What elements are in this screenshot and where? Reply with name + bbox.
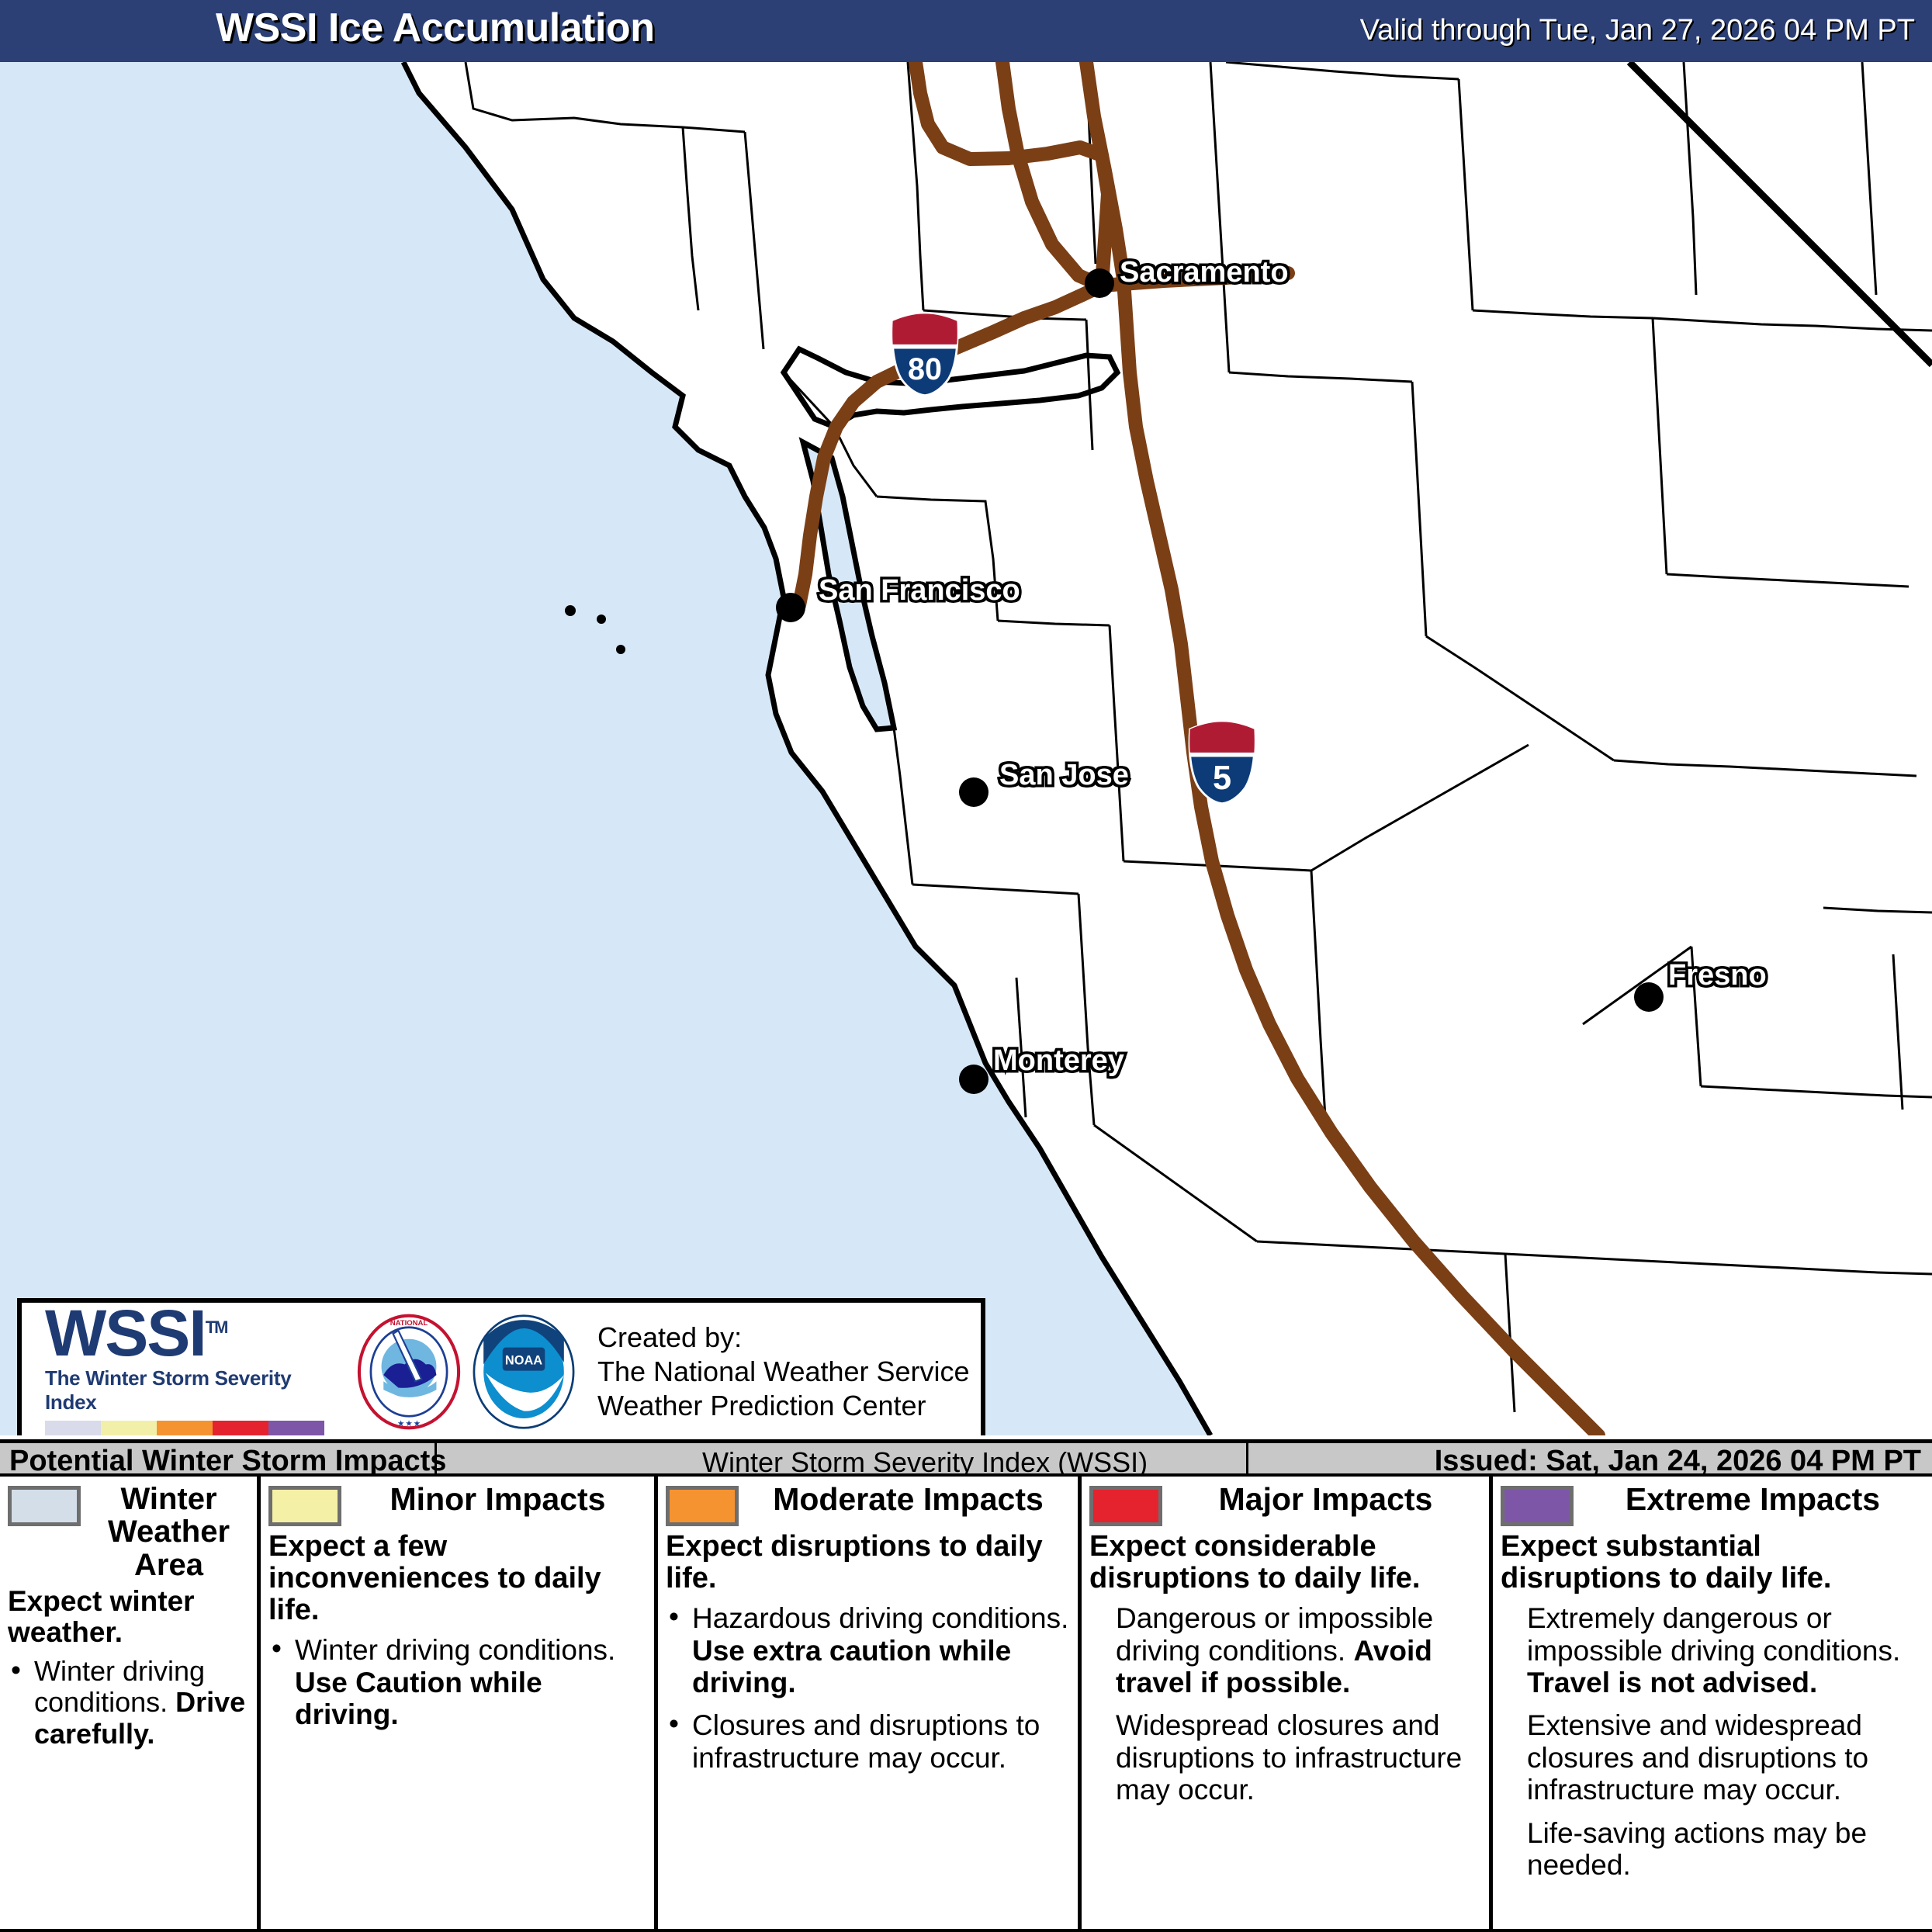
city-dot [959, 1065, 989, 1094]
legend-bullet-item: Hazardous driving conditions. Use extra … [666, 1602, 1070, 1698]
shield-route-number: 80 [908, 352, 942, 386]
legend-column-winter-weather-area[interactable]: Winter Weather Area Expect winter weathe… [0, 1477, 261, 1929]
legend-swatch-major-impacts [1089, 1486, 1162, 1526]
impacts-status-bar: Potential Winter Storm Impacts Winter St… [0, 1439, 1932, 1477]
legend-swatch-winter-weather-area [8, 1486, 81, 1526]
legend-bullet-list: Dangerous or impossible driving conditio… [1089, 1602, 1481, 1806]
legend-bullet-item: Winter driving conditions. Use Caution w… [268, 1634, 646, 1730]
legend-column-minor-impacts[interactable]: Minor Impacts Expect a few inconvenience… [261, 1477, 658, 1929]
legend-bullet-item: Life-saving actions may be needed. [1501, 1817, 1924, 1882]
legend-title: Extreme Impacts [1581, 1483, 1924, 1516]
city-label: Fresno [1668, 959, 1767, 992]
map-canvas[interactable]: Sacramento San Francisco San Jose Fresno… [0, 62, 1932, 1435]
strip-swatch-minor [101, 1421, 157, 1435]
strip-swatch-extreme [268, 1421, 324, 1435]
page-title: WSSI Ice Accumulation [216, 5, 654, 51]
legend-column-extreme-impacts[interactable]: Extreme Impacts Expect substantial disru… [1493, 1477, 1932, 1929]
strip-swatch-winter-weather [45, 1421, 101, 1435]
legend-column-major-impacts[interactable]: Major Impacts Expect considerable disrup… [1082, 1477, 1493, 1929]
svg-text:NATIONAL: NATIONAL [390, 1319, 428, 1328]
trademark-symbol: TM [206, 1317, 227, 1337]
page-header: WSSI Ice Accumulation Valid through Tue,… [0, 0, 1932, 62]
legend-bullet-item: Closures and disruptions to infrastructu… [666, 1709, 1070, 1774]
legend-bullet-list: Hazardous driving conditions. Use extra … [666, 1602, 1070, 1774]
city-label: San Jose [999, 759, 1129, 792]
legend-lead-text: Expect substantial disruptions to daily … [1501, 1531, 1924, 1594]
legend-bullet-item: Dangerous or impossible driving conditio… [1089, 1602, 1481, 1698]
legend-header: Major Impacts [1089, 1483, 1481, 1526]
strip-swatch-major [213, 1421, 268, 1435]
map-geography [0, 62, 1932, 1435]
legend-header: Extreme Impacts [1501, 1483, 1924, 1526]
legend-header: Minor Impacts [268, 1483, 646, 1526]
noaa-seal: NOAA [470, 1314, 577, 1430]
legend-lead-text: Expect winter weather. [8, 1586, 249, 1648]
legend-header: Winter Weather Area [8, 1483, 249, 1581]
strip-swatch-moderate [157, 1421, 213, 1435]
statusbar-issued-label: Issued: Sat, Jan 24, 2026 04 PM PT [1435, 1445, 1921, 1478]
interstate-5-shield[interactable]: 5 [1186, 720, 1259, 805]
wssi-subtitle: The Winter Storm Severity Index [45, 1366, 348, 1414]
legend-column-moderate-impacts[interactable]: Moderate Impacts Expect disruptions to d… [658, 1477, 1082, 1929]
city-label: Sacramento [1120, 256, 1289, 289]
legend-bullet-item: Extensive and widespread closures and di… [1501, 1709, 1924, 1806]
legend-lead-text: Expect disruptions to daily life. [666, 1531, 1070, 1594]
created-by-line-1: Created by: [597, 1321, 970, 1355]
city-label: Monterey [993, 1044, 1124, 1078]
legend-title: Winter Weather Area [88, 1483, 249, 1581]
legend-title: Major Impacts [1170, 1483, 1481, 1516]
legend-swatch-extreme-impacts [1501, 1486, 1574, 1526]
city-dot [959, 777, 989, 807]
farallon-island [565, 605, 576, 616]
statusbar-divider [1246, 1443, 1248, 1473]
interstate-80-shield[interactable]: 80 [888, 312, 961, 397]
farallon-island [616, 645, 625, 654]
legend-header: Moderate Impacts [666, 1483, 1070, 1526]
created-by-line-2: The National Weather Service [597, 1355, 970, 1389]
impacts-legend: Winter Weather Area Expect winter weathe… [0, 1477, 1932, 1932]
city-label: San Francisco [819, 574, 1020, 608]
legend-bullet-item: Widespread closures and disruptions to i… [1089, 1709, 1481, 1806]
legend-lead-text: Expect considerable disruptions to daily… [1089, 1531, 1481, 1594]
svg-text:★ ★ ★: ★ ★ ★ [398, 1420, 421, 1428]
wssi-credit-box: WSSITM The Winter Storm Severity Index [17, 1298, 985, 1435]
statusbar-center-label: Winter Storm Severity Index (WSSI) [702, 1446, 1148, 1479]
legend-swatch-minor-impacts [268, 1486, 341, 1526]
legend-bullet-list: Winter driving conditions. Drive careful… [8, 1656, 249, 1750]
svg-text:NOAA: NOAA [505, 1353, 542, 1367]
legend-bullet-list: Winter driving conditions. Use Caution w… [268, 1634, 646, 1730]
farallon-island [597, 615, 606, 624]
legend-swatch-moderate-impacts [666, 1486, 739, 1526]
legend-lead-text: Expect a few inconveniences to daily lif… [268, 1531, 646, 1626]
wssi-color-strip [45, 1421, 324, 1435]
shield-route-number: 5 [1213, 760, 1231, 797]
created-by-block: Created by: The National Weather Service… [597, 1321, 970, 1423]
national-weather-service-seal: NATIONAL ★ ★ ★ [355, 1314, 462, 1430]
legend-bullet-item: Winter driving conditions. Drive careful… [8, 1656, 249, 1750]
valid-through-text: Valid through Tue, Jan 27, 2026 04 PM PT [1360, 14, 1915, 47]
legend-title: Minor Impacts [349, 1483, 646, 1516]
wssi-wordmark: WSSITM [45, 1303, 348, 1365]
wssi-wordmark-text: WSSI [45, 1297, 206, 1369]
legend-bullet-item: Extremely dangerous or impossible drivin… [1501, 1602, 1924, 1698]
city-dot [1085, 268, 1114, 298]
wssi-logo: WSSITM The Winter Storm Severity Index [45, 1303, 348, 1435]
created-by-line-3: Weather Prediction Center [597, 1389, 970, 1423]
legend-title: Moderate Impacts [746, 1483, 1070, 1516]
wssi-map-page: WSSI Ice Accumulation Valid through Tue,… [0, 0, 1932, 1932]
city-dot [776, 593, 805, 622]
legend-bullet-list: Extremely dangerous or impossible drivin… [1501, 1602, 1924, 1882]
statusbar-left-label: Potential Winter Storm Impacts [9, 1445, 446, 1478]
city-dot [1634, 982, 1664, 1012]
